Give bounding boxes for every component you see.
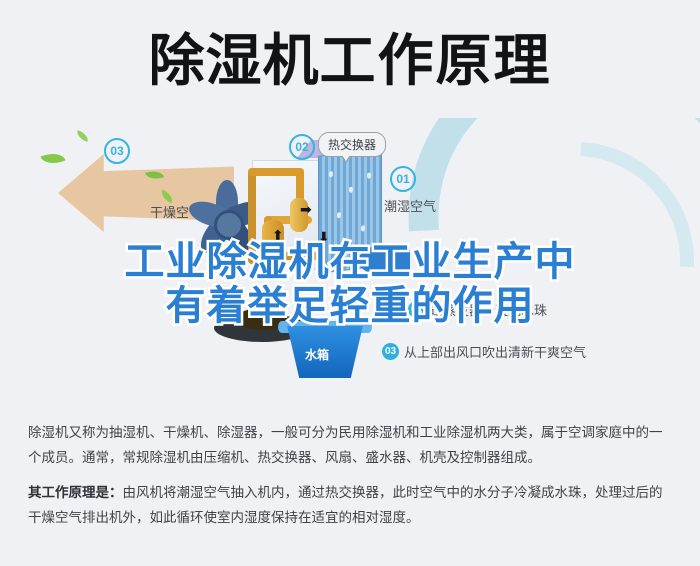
infographic-page: 除湿机工作原理 干燥空气 bbox=[0, 0, 700, 566]
article-body: 除湿机又称为抽湿机、干燥机、除湿器，一般可分为民用除湿机和工业除湿机两大类，属于… bbox=[28, 420, 674, 540]
body-paragraph-2-rest: 由风机将潮湿空气抽入机内，通过热交换器，此时空气中的水分子冷凝成水珠，处理过后的… bbox=[28, 485, 663, 525]
body-paragraph-1: 除湿机又称为抽湿机、干燥机、除湿器，一般可分为民用除湿机和工业除湿机两大类，属于… bbox=[28, 420, 674, 470]
flow-arrow-icon: ➡ bbox=[300, 202, 312, 216]
page-title-part1: 除湿机 bbox=[149, 29, 320, 92]
step-badge-02-heat-exchanger: 02 bbox=[289, 134, 315, 160]
body-paragraph-2: 其工作原理是：由风机将潮湿空气抽入机内，通过热交换器，此时空气中的水分子冷凝成水… bbox=[28, 480, 674, 530]
humid-air-label: 潮湿空气 bbox=[384, 196, 436, 215]
caption-text-03: 从上部出风口吹出清新干爽空气 bbox=[404, 342, 586, 361]
leaf-icon bbox=[40, 148, 65, 168]
caption-badge-03: 03 bbox=[382, 343, 399, 360]
overlay-headline-line2: 有着举足轻重的作用 bbox=[0, 284, 700, 328]
overlay-headline: 工业除湿机在工业生产中 有着举足轻重的作用 bbox=[0, 240, 700, 328]
leaf-icon bbox=[75, 130, 90, 142]
step-badge-01-humid-air: 01 bbox=[390, 166, 416, 192]
overlay-headline-line1: 工业除湿机在工业生产中 bbox=[0, 240, 700, 284]
body-paragraph-2-lead: 其工作原理是： bbox=[28, 485, 123, 500]
page-title: 除湿机工作原理 bbox=[0, 28, 700, 94]
heat-exchanger-callout: 热交换器 bbox=[318, 132, 386, 157]
page-title-part2: 工作原理 bbox=[320, 29, 552, 92]
water-tank-label: 水箱 bbox=[305, 346, 329, 363]
step-badge-03-dry-air: 03 bbox=[104, 138, 130, 164]
